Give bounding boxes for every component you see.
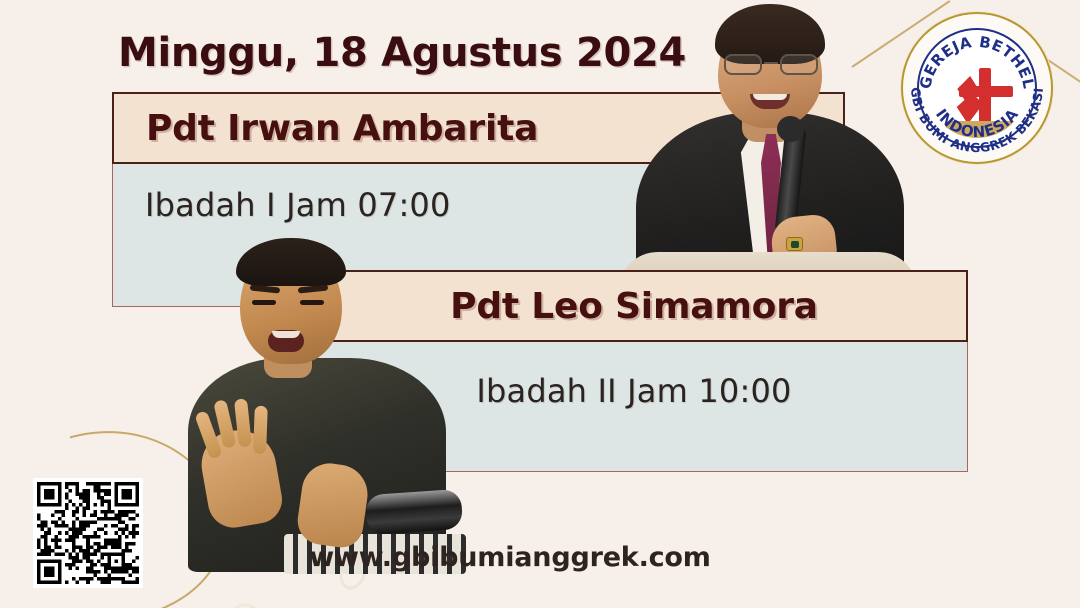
glasses-lens-right xyxy=(780,54,818,75)
service-time-first: Ibadah I Jam 07:00 xyxy=(145,186,451,224)
speaker-two-hand-left xyxy=(196,424,286,531)
service-date-heading: Minggu, 18 Agustus 2024 xyxy=(118,30,686,76)
speaker-name-second: Pdt Leo Simamora xyxy=(450,286,818,327)
speaker-one-hair xyxy=(715,4,825,64)
service-card-second-header: Pdt Leo Simamora xyxy=(300,270,968,342)
speaker-two-hand-right xyxy=(295,460,372,550)
speaker-two-mouth xyxy=(268,330,304,352)
service-card-first-header: Pdt Irwan Ambarita xyxy=(112,92,845,164)
cross-icon-horizontal xyxy=(959,86,1013,97)
service-card-second-body: Ibadah II Jam 10:00 xyxy=(300,342,968,472)
glasses-bridge xyxy=(764,62,778,64)
glasses-icon xyxy=(722,54,820,76)
logo-emblem xyxy=(927,38,1027,138)
poster-canvas: Minggu, 18 Agustus 2024 Pdt Irwan Ambari… xyxy=(0,0,1080,608)
glasses-lens-left xyxy=(724,54,762,75)
finger-4 xyxy=(253,406,268,454)
website-url[interactable]: www.gbibumianggrek.com xyxy=(0,542,1080,573)
bowl-rim xyxy=(945,121,1027,129)
batik-motif-c xyxy=(228,598,266,608)
finger-2 xyxy=(213,399,236,449)
microphone-stand xyxy=(365,489,464,536)
finger-3 xyxy=(234,398,252,447)
gbi-church-logo: GEREJA BETHEL INDONESIA GBI BUMI ANGGREK… xyxy=(901,12,1053,164)
finger-1 xyxy=(194,410,223,460)
service-card-second: Pdt Leo Simamora Ibadah II Jam 10:00 xyxy=(300,270,968,472)
speaker-name-first: Pdt Irwan Ambarita xyxy=(146,108,538,149)
service-time-second: Ibadah II Jam 10:00 xyxy=(301,372,967,410)
